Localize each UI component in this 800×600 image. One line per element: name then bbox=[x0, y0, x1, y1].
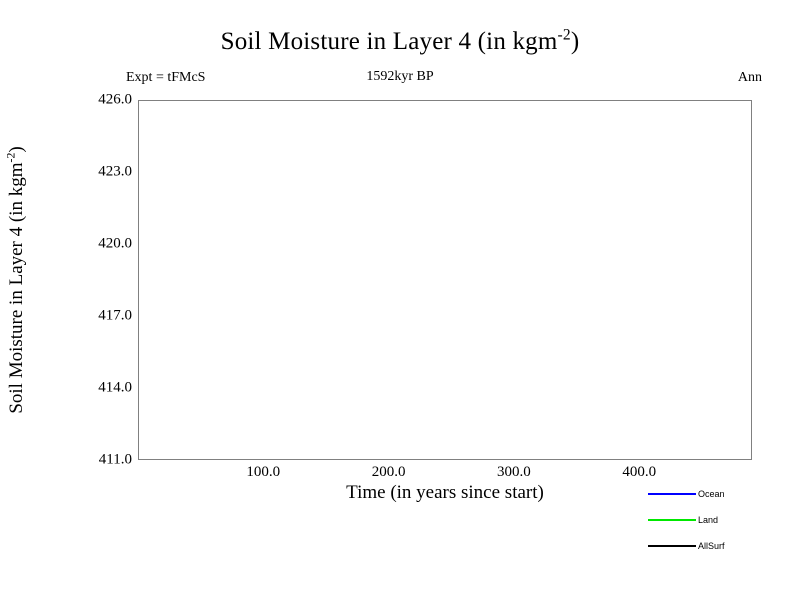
y-tick-label: 426.0 bbox=[98, 92, 132, 109]
page-title: Soil Moisture in Layer 4 (in kgm-2) bbox=[0, 28, 800, 56]
figure-canvas: Soil Moisture in Layer 4 (in kgm-2) 1592… bbox=[0, 0, 800, 600]
y-tick-label: 417.0 bbox=[98, 308, 132, 325]
legend-item-ocean[interactable]: Ocean bbox=[648, 486, 800, 502]
legend: OceanLandAllSurf bbox=[648, 486, 800, 566]
y-axis-title-tail: ) bbox=[6, 146, 27, 152]
legend-label: Ocean bbox=[698, 486, 725, 502]
legend-swatch-ocean bbox=[648, 493, 696, 495]
legend-label: Land bbox=[698, 512, 718, 528]
y-tick-label: 420.0 bbox=[98, 236, 132, 253]
page-title-text: Soil Moisture in Layer 4 (in kgm bbox=[221, 28, 558, 55]
y-axis-title-exponent: -2 bbox=[5, 153, 18, 163]
y-tick-label: 414.0 bbox=[98, 380, 132, 397]
x-tick-label: 200.0 bbox=[372, 464, 406, 481]
legend-item-land[interactable]: Land bbox=[648, 512, 800, 528]
legend-item-allsurf[interactable]: AllSurf bbox=[648, 538, 800, 554]
period-label: Ann bbox=[738, 70, 762, 86]
experiment-label: Expt = tFMcS bbox=[126, 70, 205, 86]
legend-label: AllSurf bbox=[698, 538, 725, 554]
plot-frame bbox=[138, 100, 752, 460]
x-tick-label: 400.0 bbox=[622, 464, 656, 481]
y-tick-label: 411.0 bbox=[99, 452, 132, 469]
y-axis-tick-labels: 411.0414.0417.0420.0423.0426.0 bbox=[68, 100, 132, 460]
y-axis-title-text: Soil Moisture in Layer 4 (in kgm bbox=[6, 162, 27, 413]
chart-subtitle: 1592kyr BP bbox=[0, 69, 800, 85]
y-tick-label: 423.0 bbox=[98, 164, 132, 181]
legend-swatch-land bbox=[648, 519, 696, 521]
page-title-tail: ) bbox=[571, 28, 580, 55]
page-title-exponent: -2 bbox=[558, 27, 571, 44]
x-tick-label: 100.0 bbox=[246, 464, 280, 481]
y-axis-title-container: Soil Moisture in Layer 4 (in kgm-2) bbox=[0, 100, 34, 460]
x-tick-label: 300.0 bbox=[497, 464, 531, 481]
plot-area bbox=[138, 100, 752, 460]
legend-swatch-allsurf bbox=[648, 545, 696, 547]
y-axis-title: Soil Moisture in Layer 4 (in kgm-2) bbox=[6, 146, 28, 413]
